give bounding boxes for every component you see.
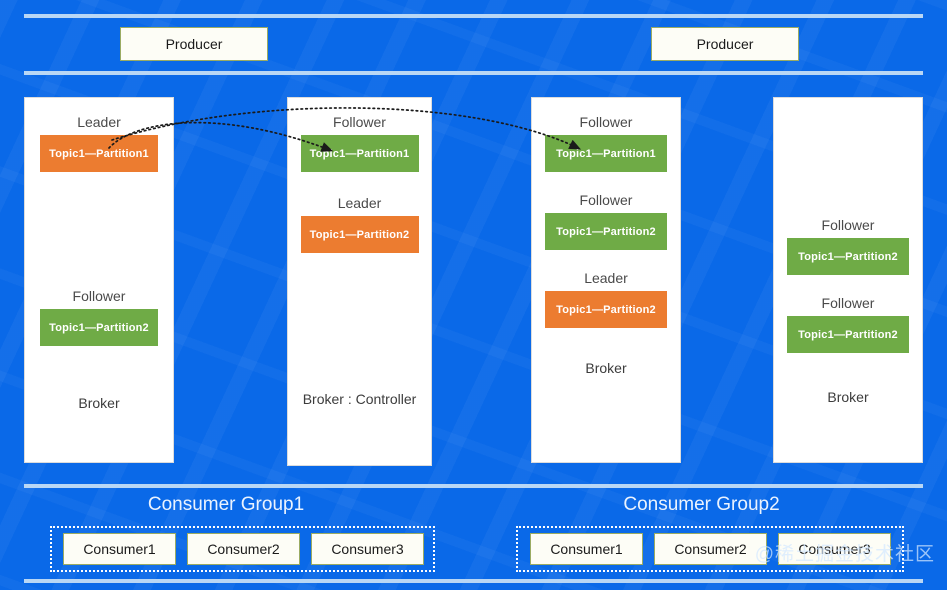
partition-block[interactable]: Topic1—Partition2 [40, 309, 158, 346]
partition-role-label: Follower [580, 114, 633, 130]
partition-block[interactable]: Topic1—Partition1 [545, 135, 667, 172]
broker-box-4[interactable]: Follower Topic1—Partition2 Follower Topi… [773, 97, 923, 463]
watermark-text: @稀土掘金技术社区 [755, 539, 935, 566]
diagram-canvas: Producer Producer Leader Topic1—Partitio… [0, 0, 947, 590]
consumer-box[interactable]: Consumer1 [530, 533, 643, 565]
broker-footer-label: Broker [827, 389, 868, 405]
consumer-box[interactable]: Consumer3 [311, 533, 424, 565]
partition-role-label: Follower [73, 288, 126, 304]
partition-role-label: Follower [822, 217, 875, 233]
partition-block[interactable]: Topic1—Partition2 [787, 316, 909, 353]
partition-block[interactable]: Topic1—Partition2 [545, 291, 667, 328]
consumer-box[interactable]: Consumer1 [63, 533, 176, 565]
broker-footer-label: Broker : Controller [303, 391, 417, 407]
producer-box-1[interactable]: Producer [120, 27, 268, 61]
partition-role-label: Follower [333, 114, 386, 130]
broker-box-3[interactable]: Follower Topic1—Partition1 Follower Topi… [531, 97, 681, 463]
producer-label: Producer [697, 36, 754, 52]
consumer-box[interactable]: Consumer2 [654, 533, 767, 565]
divider-bottom [24, 579, 923, 583]
partition-slot: Follower Topic1—Partition2 [25, 288, 173, 346]
consumer-group-1-title: Consumer Group1 [24, 494, 428, 516]
partition-block[interactable]: Topic1—Partition1 [301, 135, 419, 172]
producer-label: Producer [166, 36, 223, 52]
consumer-group-1-box: Consumer1 Consumer2 Consumer3 [50, 526, 435, 572]
partition-role-label: Leader [584, 270, 628, 286]
partition-block[interactable]: Topic1—Partition1 [40, 135, 158, 172]
partition-slot: Follower Topic1—Partition2 [774, 295, 922, 353]
partition-slot: Leader Topic1—Partition1 [25, 114, 173, 172]
consumer-box[interactable]: Consumer2 [187, 533, 300, 565]
partition-role-label: Leader [338, 195, 382, 211]
producer-box-2[interactable]: Producer [651, 27, 799, 61]
partition-slot: Follower Topic1—Partition2 [532, 192, 680, 250]
partition-role-label: Follower [580, 192, 633, 208]
broker-box-2[interactable]: Follower Topic1—Partition1 Leader Topic1… [287, 97, 432, 466]
divider-above-consumers [24, 484, 923, 488]
partition-block[interactable]: Topic1—Partition2 [301, 216, 419, 253]
broker-box-1[interactable]: Leader Topic1—Partition1 Follower Topic1… [24, 97, 174, 463]
partition-slot: Leader Topic1—Partition2 [288, 195, 431, 253]
partition-role-label: Follower [822, 295, 875, 311]
partition-slot: Follower Topic1—Partition1 [532, 114, 680, 172]
partition-slot: Leader Topic1—Partition2 [532, 270, 680, 328]
divider-top [24, 14, 923, 18]
divider-below-producers [24, 71, 923, 75]
partition-slot: Follower Topic1—Partition2 [774, 217, 922, 275]
broker-footer-label: Broker [78, 395, 119, 411]
partition-slot: Follower Topic1—Partition1 [288, 114, 431, 172]
partition-block[interactable]: Topic1—Partition2 [545, 213, 667, 250]
broker-footer-label: Broker [585, 360, 626, 376]
consumer-group-2-title: Consumer Group2 [514, 494, 889, 516]
partition-block[interactable]: Topic1—Partition2 [787, 238, 909, 275]
partition-role-label: Leader [77, 114, 121, 130]
